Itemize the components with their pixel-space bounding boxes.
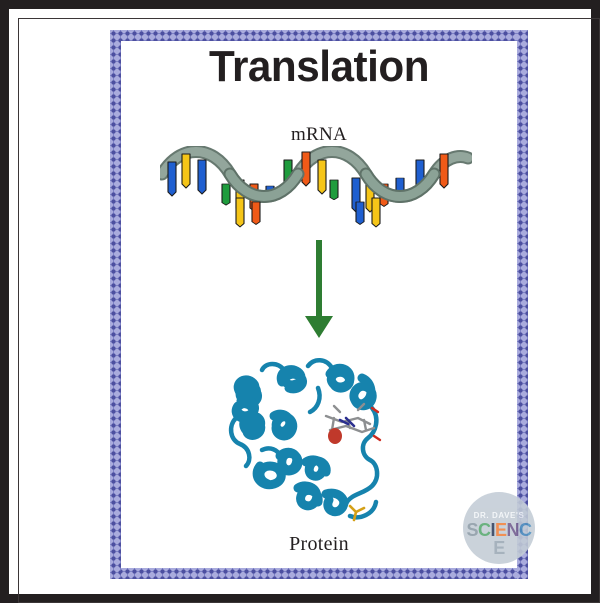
border-band-left [110, 30, 121, 579]
watermark-letter-4: N [507, 521, 520, 539]
watermark-letter-3: E [495, 521, 507, 539]
border-band-top [110, 30, 528, 41]
watermark-letter-5: C [519, 521, 532, 539]
page-title: Translation [118, 44, 519, 90]
border-band-bottom [110, 568, 528, 579]
mrna-strand-illustration [160, 146, 472, 232]
protein-structure-illustration [222, 348, 402, 524]
watermark-letter-6: E [493, 539, 505, 557]
border-band-right [517, 30, 528, 579]
watermark-line2: SCIENCE [463, 521, 535, 557]
watermark-line1: DR. DAVE'S [463, 511, 535, 520]
mrna-label: mRNA [110, 124, 528, 146]
poster-canvas: Translation mRNA [0, 0, 600, 603]
watermark-logo: DR. DAVE'S SCIENCE [463, 492, 535, 564]
translation-arrow [295, 240, 343, 340]
watermark-letter-0: S [466, 521, 478, 539]
watermark-letter-1: C [478, 521, 491, 539]
